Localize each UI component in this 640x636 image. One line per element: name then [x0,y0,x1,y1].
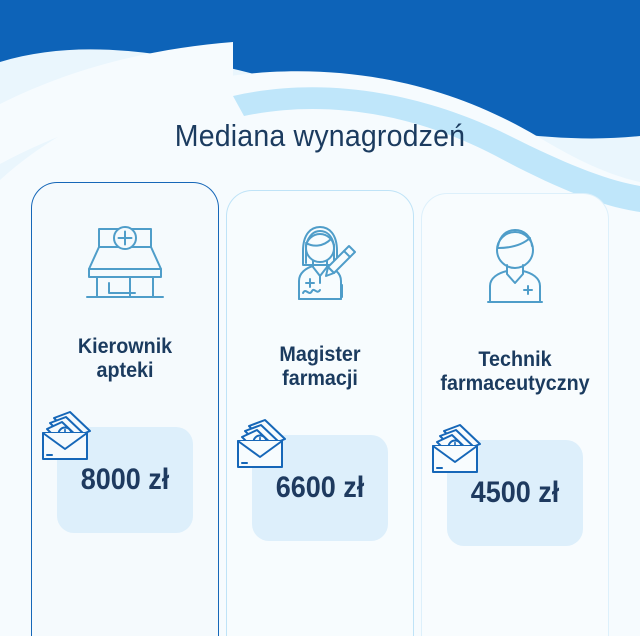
page-title: Mediana wynagrodzeń [26,118,615,154]
wave-light-blue [0,0,640,136]
card-magister-farmacji[interactable]: Magister farmacji 6600 zł [226,190,414,636]
money-envelope-icon [235,417,301,473]
cards-row: Kierownik apteki 8000 zł [0,182,640,636]
wave-pale-blue [0,0,640,132]
role-line-1: Magister [233,343,408,367]
role-line-2: apteki [38,359,213,383]
icon-wrap [70,215,180,307]
pharmacy-storefront-icon [75,219,175,303]
money-envelope-icon [430,422,496,478]
pharmacy-technician-icon [468,224,562,308]
role-line-2: farmaceutyczny [428,372,603,396]
role-title: Technik farmaceutyczny [428,348,603,396]
icon-wrap [460,220,570,312]
salary-block: 4500 zł [422,422,608,572]
role-title: Kierownik apteki [38,335,213,383]
card-technik-farmaceutyczny[interactable]: Technik farmaceutyczny 4500 zł [421,193,609,636]
salary-block: 6600 zł [227,417,413,567]
role-line-1: Technik [428,348,603,372]
salary-value: 4500 zł [431,476,598,510]
money-envelope-icon [40,409,106,465]
icon-wrap [265,217,375,309]
role-line-1: Kierownik [38,335,213,359]
salary-value: 8000 zł [41,463,208,497]
card-kierownik-apteki[interactable]: Kierownik apteki 8000 zł [31,182,219,636]
role-title: Magister farmacji [233,343,408,391]
salary-block: 8000 zł [32,409,218,559]
role-line-2: farmacji [233,367,408,391]
pharmacist-woman-icon [273,221,367,305]
salary-value: 6600 zł [236,471,403,505]
infographic-root: Mediana wynagrodzeń [0,0,640,636]
